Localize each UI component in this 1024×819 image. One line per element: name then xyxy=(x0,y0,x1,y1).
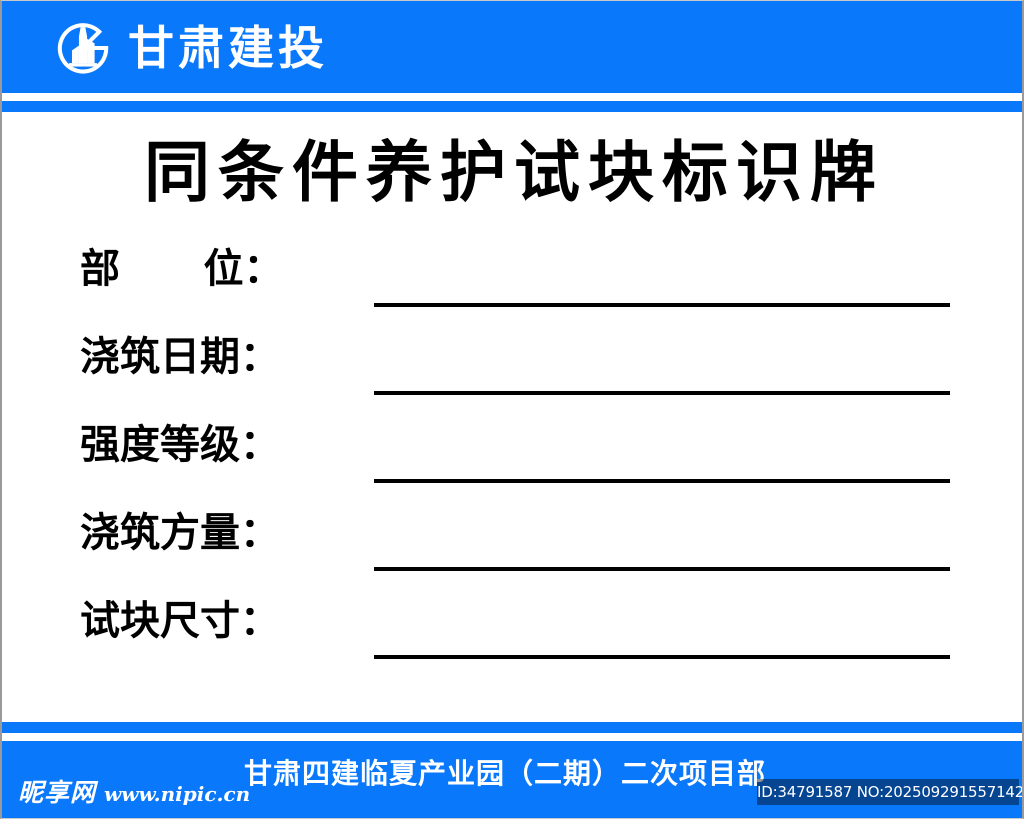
footer-accent-stripe xyxy=(2,722,1024,733)
watermark-nipic: 昵享网 www.nipic.cn xyxy=(18,780,250,805)
field-row-pour-volume: 浇筑方量： xyxy=(80,513,950,601)
field-label-pour-date: 浇筑日期： xyxy=(80,337,352,377)
field-label-pour-volume: 浇筑方量： xyxy=(80,513,352,553)
field-row-strength-grade: 强度等级： xyxy=(80,425,950,513)
field-label-location: 部 位： xyxy=(80,249,352,289)
header-band: 甘肃建投 xyxy=(2,1,1024,93)
field-list: 部 位： 浇筑日期： 强度等级： 浇筑方量： 试块尺寸： xyxy=(80,249,950,689)
field-row-pour-date: 浇筑日期： xyxy=(80,337,950,425)
watermark-id-badge: ID:34791587 NO:20250929155714241100 xyxy=(757,779,1019,805)
header-accent-stripe xyxy=(2,101,1024,112)
gansu-construction-emblem-icon xyxy=(54,19,112,77)
watermark-site-url: www.nipic.cn xyxy=(104,784,250,804)
page-title: 同条件养护试块标识牌 xyxy=(144,135,884,211)
watermark-site-name: 昵享网 xyxy=(18,780,96,805)
brand-name: 甘肃建投 xyxy=(128,25,328,71)
field-row-specimen-size: 试块尺寸： xyxy=(80,601,950,689)
header-brand-group: 甘肃建投 xyxy=(54,19,328,77)
title-row: 同条件养护试块标识牌 xyxy=(2,135,1024,211)
signboard: 甘肃建投 同条件养护试块标识牌 部 位： 浇筑日期： 强度等级： 浇筑方量： 试… xyxy=(0,0,1024,819)
field-label-specimen-size: 试块尺寸： xyxy=(80,601,352,641)
field-row-location: 部 位： xyxy=(80,249,950,337)
field-label-strength-grade: 强度等级： xyxy=(80,425,352,465)
